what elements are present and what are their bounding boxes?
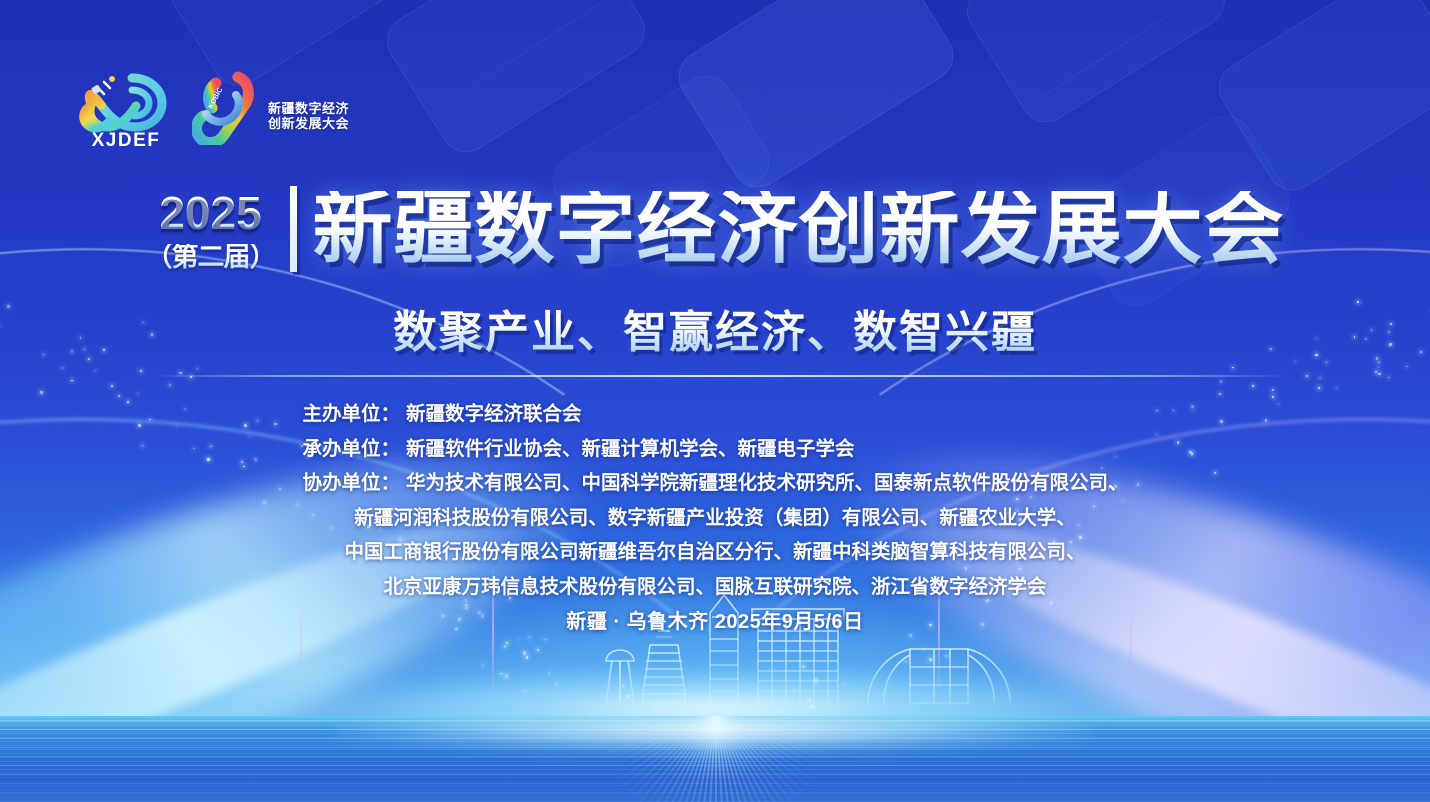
organizer-value-co-host: 新疆软件行业协会、新疆计算机学会、新疆电子学会 <box>406 440 855 460</box>
organizer-row-support: 协办单位： 华为技术有限公司、中国科学院新疆理化技术研究所、国泰新点软件股份有限… <box>302 474 1127 494</box>
xjdef-logo[interactable]: XJDEF <box>74 64 178 150</box>
title-row: 2025 （第二届） 新疆数字经济创新发展大会 <box>0 186 1430 272</box>
xjdef-wordmark: XJDEF <box>92 130 161 150</box>
star-particle <box>591 713 593 715</box>
organizer-continuation-line: 中国工商银行股份有限公司新疆维吾尔自治区分行、新疆中科类脑智算科技有限公司、 <box>344 543 1085 563</box>
star-particle <box>549 672 551 674</box>
organizer-label-host: 主办单位： <box>302 405 400 425</box>
star-particle <box>523 651 526 654</box>
star-particle <box>1219 393 1221 395</box>
star-particle <box>1336 387 1337 388</box>
star-particle <box>1378 366 1379 367</box>
year-edition-block: 2025 （第二届） <box>146 190 276 271</box>
venue-date-line: 新疆 · 乌鲁木齐 2025年9月5/6日 <box>0 605 1430 634</box>
organizer-continuation-line: 新疆河润科技股份有限公司、数字新疆产业投资（集团）有限公司、新疆农业大学、 <box>354 509 1076 529</box>
organizer-lines: 主办单位： 新疆数字经济联合会 承办单位： 新疆软件行业协会、新疆计算机学会、新… <box>302 405 1127 612</box>
star-particle <box>40 391 42 393</box>
star-particle <box>118 395 119 396</box>
organizer-continuation-line: 北京亚康万玮信息技术股份有限公司、国脉互联研究院、浙江省数字经济学会 <box>383 578 1046 598</box>
year-label: 2025 <box>159 190 261 236</box>
subtitle: 数聚产业、智赢经济、数智兴疆 <box>0 296 1430 360</box>
title-separator-bar <box>290 186 297 272</box>
star-particle <box>556 683 557 684</box>
page-title: 新疆数字经济创新发展大会 <box>313 191 1285 268</box>
colorful-ribbon-icon: KOBIC <box>192 69 262 145</box>
conference-poster: XJDEF <box>0 0 1430 802</box>
star-particle <box>1232 367 1233 368</box>
conference-logo-line1: 新疆数字经济 <box>268 101 349 116</box>
star-particle <box>1306 375 1307 376</box>
reflective-ground-grid <box>0 716 1430 802</box>
conference-logo-line2: 创新发展大会 <box>268 116 349 131</box>
infinity-loop-icon <box>83 76 162 128</box>
organizer-label-co-host: 承办单位： <box>302 440 400 460</box>
star-particle <box>1220 380 1222 382</box>
star-particle <box>529 637 530 638</box>
star-particle <box>909 634 912 637</box>
section-divider <box>150 375 1290 377</box>
star-particle <box>524 690 526 692</box>
ground-horizon-glow <box>335 716 1095 752</box>
star-particle <box>111 385 113 387</box>
star-particle <box>140 370 142 372</box>
organizer-value-support: 华为技术有限公司、中国科学院新疆理化技术研究所、国泰新点软件股份有限公司、 <box>406 474 1128 494</box>
star-particle <box>1378 362 1379 363</box>
star-particle <box>1252 385 1254 387</box>
organizer-label-support: 协办单位： <box>302 474 400 494</box>
star-particle <box>197 368 198 369</box>
star-particle <box>905 661 907 663</box>
organizer-row-co-host: 承办单位： 新疆软件行业协会、新疆计算机学会、新疆电子学会 <box>302 440 854 460</box>
logo-row: XJDEF <box>74 64 349 150</box>
edition-label: （第二届） <box>146 244 276 271</box>
organizer-row-host: 主办单位： 新疆数字经济联合会 <box>302 405 581 425</box>
star-particle <box>815 679 817 681</box>
star-particle <box>504 645 507 648</box>
conference-logo[interactable]: KOBIC 新疆数字经济 创新发展大会 <box>192 69 349 145</box>
conference-logo-text: 新疆数字经济 创新发展大会 <box>268 83 349 132</box>
organizer-block: 主办单位： 新疆数字经济联合会 承办单位： 新疆软件行业协会、新疆计算机学会、新… <box>0 405 1430 612</box>
star-particle <box>810 705 813 708</box>
organizer-value-host: 新疆数字经济联合会 <box>406 405 582 425</box>
